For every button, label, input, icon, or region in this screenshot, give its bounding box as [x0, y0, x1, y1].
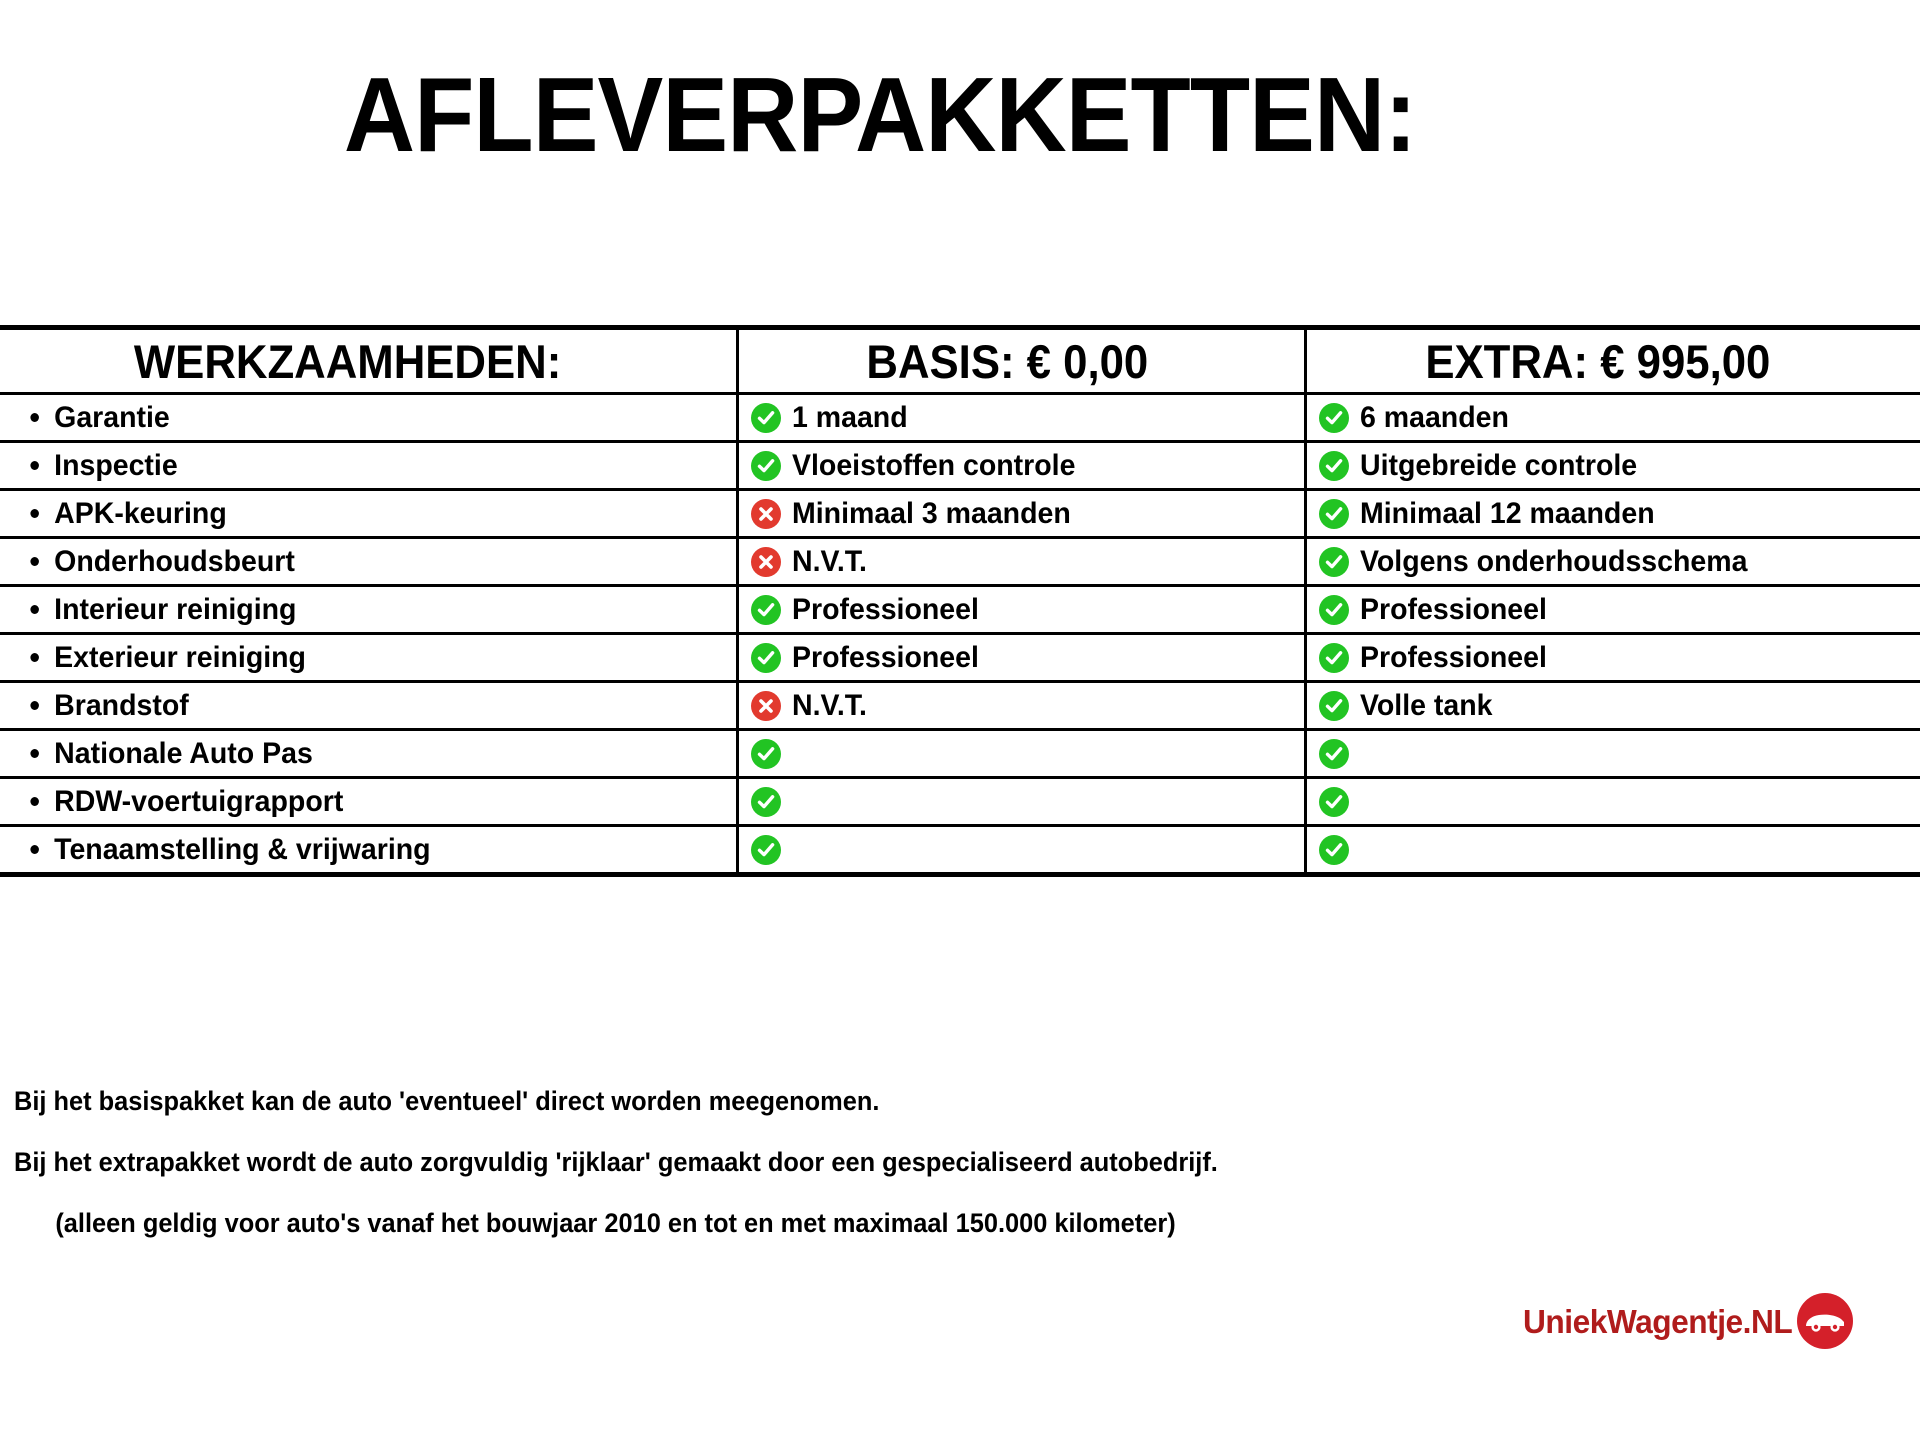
cell-extra: Volle tank [1305, 682, 1920, 730]
basis-value-label: Minimaal 3 maanden [792, 499, 1071, 529]
cell-feature: Garantie [0, 394, 737, 442]
table-row: RDW-voertuigrapport [0, 778, 1920, 826]
extra-value [1307, 779, 1920, 824]
check-circle-icon [1319, 547, 1349, 577]
bullet-icon [30, 749, 39, 758]
cell-feature: Exterieur reiniging [0, 634, 737, 682]
table-row: BrandstofN.V.T.Volle tank [0, 682, 1920, 730]
feature-item: APK-keuring [0, 499, 699, 529]
feature-label: APK-keuring [54, 499, 227, 529]
column-header-werkzaamheden: WERKZAAMHEDEN: [0, 328, 737, 394]
table-header: WERKZAAMHEDEN: BASIS: € 0,00 EXTRA: € 99… [0, 328, 1920, 394]
extra-value: 6 maanden [1307, 395, 1920, 440]
check-circle-icon [1319, 595, 1349, 625]
brand-logo-text: UniekWagentje.NL [1523, 1305, 1792, 1338]
extra-value-label: Volle tank [1360, 691, 1493, 721]
basis-value: Professioneel [739, 587, 1304, 632]
check-circle-icon [1319, 739, 1349, 769]
cell-extra: Uitgebreide controle [1305, 442, 1920, 490]
cell-feature: Onderhoudsbeurt [0, 538, 737, 586]
page-title: AFLEVERPAKKETTEN: [62, 62, 1699, 168]
column-header-basis: BASIS: € 0,00 [737, 328, 1305, 394]
cell-extra: Professioneel [1305, 634, 1920, 682]
cell-feature: RDW-voertuigrapport [0, 778, 737, 826]
feature-label: Nationale Auto Pas [54, 739, 313, 769]
check-circle-icon [751, 595, 781, 625]
feature-label: Tenaamstelling & vrijwaring [54, 835, 430, 865]
check-circle-icon [1319, 643, 1349, 673]
extra-value-label: Professioneel [1360, 643, 1547, 673]
check-circle-icon [1319, 451, 1349, 481]
poster-canvas: AFLEVERPAKKETTEN: WERKZAAMHEDEN: BASIS: … [0, 0, 1920, 1440]
table-row: OnderhoudsbeurtN.V.T.Volgens onderhoudss… [0, 538, 1920, 586]
packages-table-container: WERKZAAMHEDEN: BASIS: € 0,00 EXTRA: € 99… [0, 325, 1920, 877]
feature-item: Brandstof [0, 691, 699, 721]
cell-basis [737, 778, 1305, 826]
column-header-extra: EXTRA: € 995,00 [1305, 328, 1920, 394]
cell-extra: Minimaal 12 maanden [1305, 490, 1920, 538]
cell-basis: Minimaal 3 maanden [737, 490, 1305, 538]
cross-circle-icon [751, 691, 781, 721]
bullet-icon [30, 557, 39, 566]
table-row: Tenaamstelling & vrijwaring [0, 826, 1920, 875]
cell-feature: APK-keuring [0, 490, 737, 538]
extra-value [1307, 827, 1920, 872]
bullet-icon [30, 605, 39, 614]
footnotes: Bij het basispakket kan de auto 'eventue… [14, 1088, 1714, 1237]
table-row: Exterieur reinigingProfessioneelProfessi… [0, 634, 1920, 682]
feature-item: Exterieur reiniging [0, 643, 699, 673]
extra-value: Professioneel [1307, 587, 1920, 632]
extra-value: Volgens onderhoudsschema [1307, 539, 1920, 584]
extra-value [1307, 731, 1920, 776]
extra-value-label: 6 maanden [1360, 403, 1509, 433]
feature-label: Onderhoudsbeurt [54, 547, 295, 577]
bullet-icon [30, 701, 39, 710]
basis-value: N.V.T. [739, 539, 1304, 584]
feature-label: Exterieur reiniging [54, 643, 306, 673]
feature-label: Inspectie [54, 451, 178, 481]
cell-feature: Brandstof [0, 682, 737, 730]
bullet-icon [30, 461, 39, 470]
check-circle-icon [1319, 499, 1349, 529]
cell-basis: Vloeistoffen controle [737, 442, 1305, 490]
feature-label: Interieur reiniging [54, 595, 296, 625]
check-circle-icon [1319, 403, 1349, 433]
basis-value: Professioneel [739, 635, 1304, 680]
basis-value [739, 779, 1304, 824]
table-header-row: WERKZAAMHEDEN: BASIS: € 0,00 EXTRA: € 99… [0, 328, 1920, 394]
extra-value: Uitgebreide controle [1307, 443, 1920, 488]
extra-value-label: Uitgebreide controle [1360, 451, 1637, 481]
check-circle-icon [751, 643, 781, 673]
feature-label: RDW-voertuigrapport [54, 787, 343, 817]
bullet-icon [30, 845, 39, 854]
table-row: Garantie1 maand6 maanden [0, 394, 1920, 442]
bullet-icon [30, 413, 39, 422]
feature-label: Garantie [54, 403, 170, 433]
cell-extra [1305, 826, 1920, 875]
check-circle-icon [1319, 835, 1349, 865]
table-row: Interieur reinigingProfessioneelProfessi… [0, 586, 1920, 634]
bullet-icon [30, 509, 39, 518]
footnote-extra-condition: (alleen geldig voor auto's vanaf het bou… [14, 1210, 1612, 1237]
basis-value-label: N.V.T. [792, 691, 867, 721]
check-circle-icon [751, 835, 781, 865]
cell-feature: Tenaamstelling & vrijwaring [0, 826, 737, 875]
basis-value: N.V.T. [739, 683, 1304, 728]
check-circle-icon [1319, 691, 1349, 721]
basis-value: 1 maand [739, 395, 1304, 440]
feature-item: Onderhoudsbeurt [0, 547, 699, 577]
cell-feature: Interieur reiniging [0, 586, 737, 634]
basis-value [739, 827, 1304, 872]
cell-extra: 6 maanden [1305, 394, 1920, 442]
basis-value-label: Vloeistoffen controle [792, 451, 1075, 481]
column-header-werkzaamheden-label: WERKZAAMHEDEN: [0, 338, 684, 385]
check-circle-icon [751, 739, 781, 769]
cell-feature: Nationale Auto Pas [0, 730, 737, 778]
cell-feature: Inspectie [0, 442, 737, 490]
brand-logo[interactable]: UniekWagentje.NL [1523, 1293, 1853, 1349]
basis-value: Minimaal 3 maanden [739, 491, 1304, 536]
check-circle-icon [751, 403, 781, 433]
table-row: APK-keuringMinimaal 3 maandenMinimaal 12… [0, 490, 1920, 538]
feature-item: Tenaamstelling & vrijwaring [0, 835, 699, 865]
column-header-basis-label: BASIS: € 0,00 [739, 338, 1264, 385]
check-circle-icon [751, 787, 781, 817]
extra-value-label: Volgens onderhoudsschema [1360, 547, 1747, 577]
cell-basis: Professioneel [737, 586, 1305, 634]
feature-item: Inspectie [0, 451, 699, 481]
cell-basis: Professioneel [737, 634, 1305, 682]
cell-basis: N.V.T. [737, 538, 1305, 586]
basis-value [739, 731, 1304, 776]
table-row: Nationale Auto Pas [0, 730, 1920, 778]
basis-value-label: Professioneel [792, 595, 979, 625]
cell-basis [737, 826, 1305, 875]
cross-circle-icon [751, 499, 781, 529]
feature-item: RDW-voertuigrapport [0, 787, 699, 817]
cell-extra [1305, 778, 1920, 826]
extra-value: Professioneel [1307, 635, 1920, 680]
extra-value-label: Minimaal 12 maanden [1360, 499, 1655, 529]
cross-circle-icon [751, 547, 781, 577]
extra-value-label: Professioneel [1360, 595, 1547, 625]
basis-value-label: N.V.T. [792, 547, 867, 577]
car-icon [1797, 1293, 1853, 1349]
basis-value-label: 1 maand [792, 403, 908, 433]
feature-item: Garantie [0, 403, 699, 433]
extra-value: Minimaal 12 maanden [1307, 491, 1920, 536]
cell-basis: N.V.T. [737, 682, 1305, 730]
packages-table: WERKZAAMHEDEN: BASIS: € 0,00 EXTRA: € 99… [0, 325, 1920, 877]
cell-extra [1305, 730, 1920, 778]
table-row: InspectieVloeistoffen controleUitgebreid… [0, 442, 1920, 490]
cell-basis: 1 maand [737, 394, 1305, 442]
basis-value-label: Professioneel [792, 643, 979, 673]
cell-extra: Professioneel [1305, 586, 1920, 634]
feature-item: Interieur reiniging [0, 595, 699, 625]
column-header-extra-label: EXTRA: € 995,00 [1307, 338, 1878, 385]
check-circle-icon [751, 451, 781, 481]
table-body: Garantie1 maand6 maandenInspectieVloeist… [0, 394, 1920, 875]
bullet-icon [30, 653, 39, 662]
feature-label: Brandstof [54, 691, 189, 721]
check-circle-icon [1319, 787, 1349, 817]
bullet-icon [30, 797, 39, 806]
footnote-extra: Bij het extrapakket wordt de auto zorgvu… [14, 1149, 1612, 1176]
cell-extra: Volgens onderhoudsschema [1305, 538, 1920, 586]
cell-basis [737, 730, 1305, 778]
basis-value: Vloeistoffen controle [739, 443, 1304, 488]
footnote-basis: Bij het basispakket kan de auto 'eventue… [14, 1088, 1612, 1115]
feature-item: Nationale Auto Pas [0, 739, 699, 769]
extra-value: Volle tank [1307, 683, 1920, 728]
